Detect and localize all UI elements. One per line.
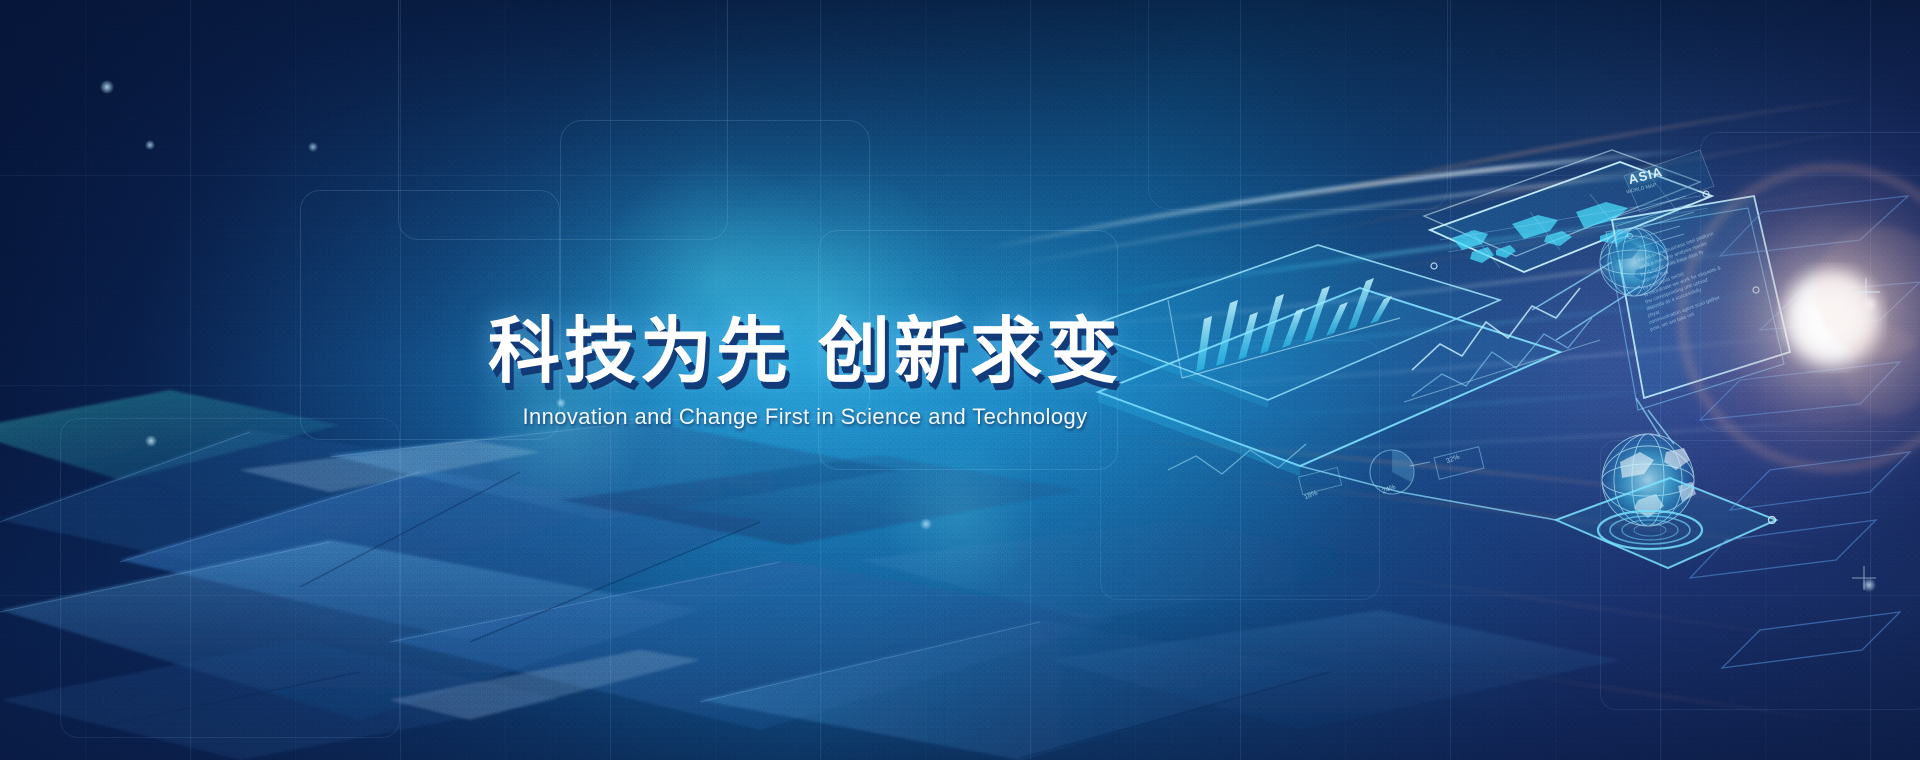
headline-part-1: 科技为先 (488, 312, 792, 392)
glow-orb-4 (880, 440, 1040, 600)
chart-label-0: 24% (1381, 484, 1397, 496)
glow-dot-8 (1862, 578, 1876, 592)
glow-dot-2 (145, 140, 155, 150)
glow-dot-4 (145, 435, 157, 447)
headline-block: 科技为先创新求变 Innovation and Change First in … (485, 316, 1125, 430)
decor-rounded-rect-1 (1148, 0, 1448, 210)
chart-label-1: 32% (1445, 454, 1461, 466)
headline-part-2: 创新求变 (818, 312, 1122, 392)
decor-rounded-rect-9 (1100, 340, 1380, 600)
page-subtitle: Innovation and Change First in Science a… (485, 404, 1125, 430)
asia-label: ASIA (1627, 164, 1665, 187)
glow-dot-6 (920, 518, 932, 530)
glow-dot-7 (1862, 296, 1878, 312)
decor-rounded-rect-6 (60, 418, 400, 738)
technology-banner: ASIA WORLD MAP the all-in-one business i… (0, 0, 1920, 760)
decor-rounded-rect-8 (1600, 440, 1920, 710)
glow-dot-3 (308, 142, 318, 152)
glow-dot-1 (100, 80, 114, 94)
page-title: 科技为先创新求变 (485, 316, 1125, 388)
